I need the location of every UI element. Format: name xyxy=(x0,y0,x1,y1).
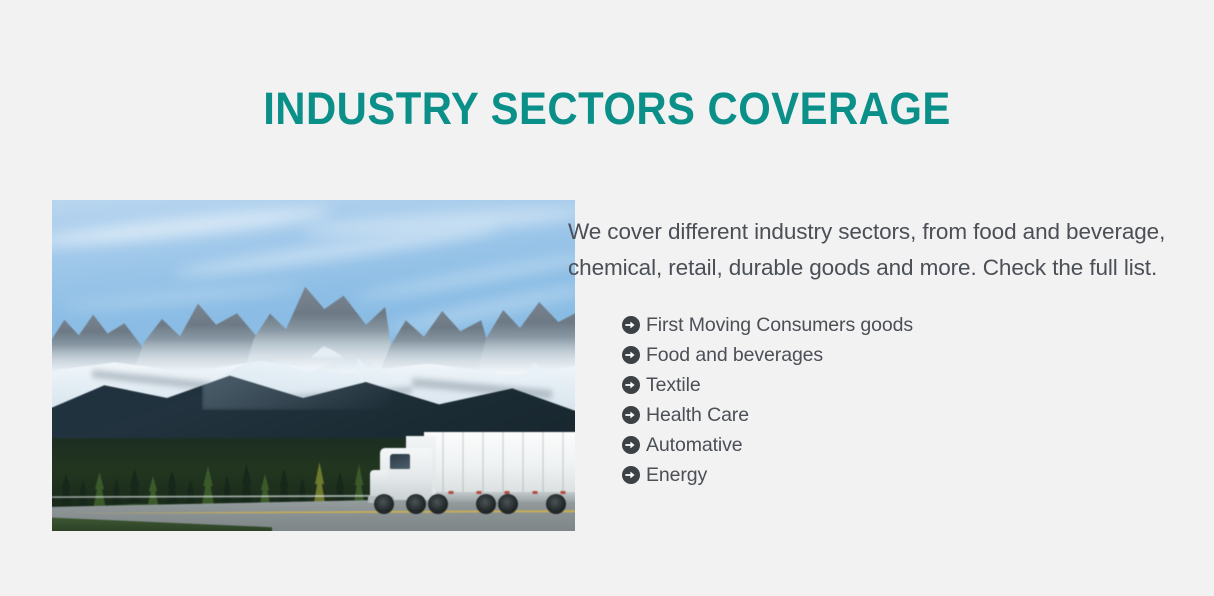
industry-sectors-section: INDUSTRY SECTORS COVERAGE xyxy=(0,0,1214,596)
truck-wheel xyxy=(406,494,426,514)
list-item[interactable]: Energy xyxy=(622,460,1214,490)
pine-tree xyxy=(146,476,160,508)
list-item[interactable]: Food and beverages xyxy=(622,340,1214,370)
arrow-circle-right-icon xyxy=(622,376,640,394)
list-item-label: Automative xyxy=(646,430,743,460)
pine-tree xyxy=(220,475,234,508)
arrow-circle-right-icon xyxy=(622,346,640,364)
page-title: INDUSTRY SECTORS COVERAGE xyxy=(42,82,1171,136)
pine-tree xyxy=(110,478,123,508)
photo-canvas xyxy=(52,200,575,531)
pine-tree xyxy=(58,474,74,508)
pine-tree xyxy=(184,479,197,508)
pine-tree xyxy=(200,466,216,508)
sector-list: First Moving Consumers goods Food and be… xyxy=(568,310,1214,490)
pine-tree xyxy=(238,464,255,508)
semi-truck xyxy=(364,426,575,526)
pine-tree xyxy=(312,462,327,508)
lead-paragraph: We cover different industry sectors, fro… xyxy=(568,214,1214,286)
truck-wheel xyxy=(428,494,448,514)
list-item-label: Textile xyxy=(646,370,701,400)
list-item-label: First Moving Consumers goods xyxy=(646,310,913,340)
list-item[interactable]: Textile xyxy=(622,370,1214,400)
arrow-circle-right-icon xyxy=(622,316,640,334)
list-item-label: Health Care xyxy=(646,400,749,430)
arrow-circle-right-icon xyxy=(622,466,640,484)
mountain-highway-truck-photo xyxy=(52,200,575,531)
text-column: We cover different industry sectors, fro… xyxy=(568,214,1214,490)
truck-wheel xyxy=(374,494,394,514)
truck-window xyxy=(390,454,410,469)
arrow-circle-right-icon xyxy=(622,436,640,454)
pine-tree xyxy=(76,480,90,508)
list-item[interactable]: First Moving Consumers goods xyxy=(622,310,1214,340)
arrow-circle-right-icon xyxy=(622,406,640,424)
list-item[interactable]: Automative xyxy=(622,430,1214,460)
pine-tree xyxy=(92,472,107,508)
list-item-label: Food and beverages xyxy=(646,340,823,370)
pine-tree xyxy=(126,468,143,508)
truck-wheel xyxy=(476,494,496,514)
pine-tree xyxy=(164,470,180,508)
truck-wheel xyxy=(498,494,518,514)
list-item[interactable]: Health Care xyxy=(622,400,1214,430)
content-row: We cover different industry sectors, fro… xyxy=(0,184,1214,524)
list-item-label: Energy xyxy=(646,460,707,490)
trailer-panel-ribs xyxy=(424,432,575,494)
truck-wheel xyxy=(546,494,566,514)
